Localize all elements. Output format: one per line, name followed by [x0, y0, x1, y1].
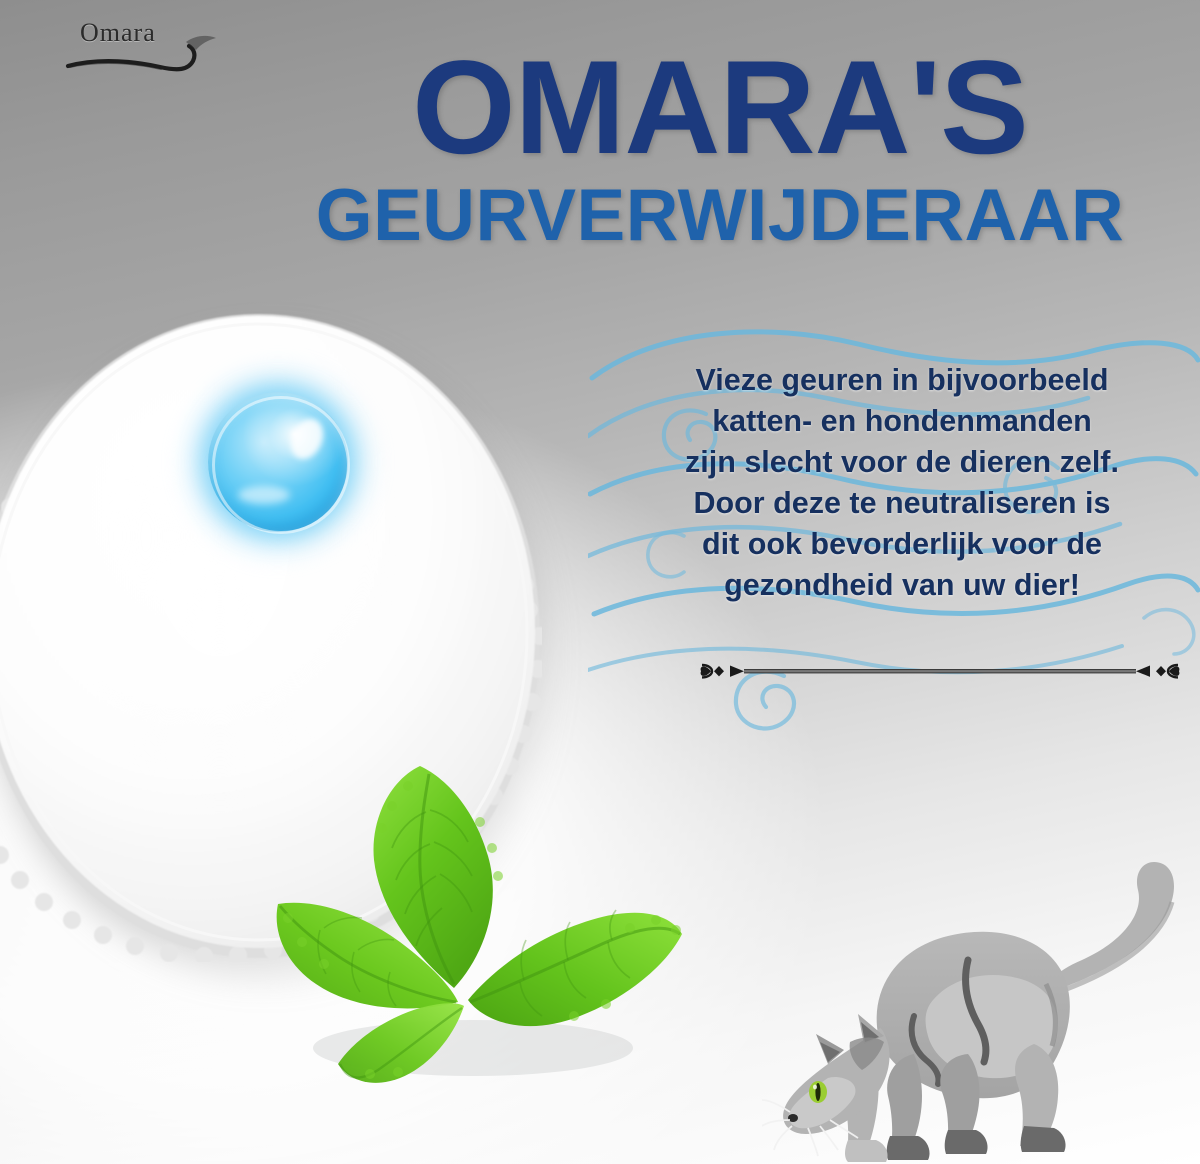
logo-wordmark: Omara — [80, 18, 156, 48]
ornamental-divider-icon — [700, 656, 1180, 686]
headline-block: OMARA'S GEURVERWIJDERAAR — [250, 46, 1190, 252]
body-line: dit ook bevorderlijk voor de — [612, 524, 1192, 565]
brand-logo: Omara — [60, 10, 250, 82]
mint-leaves-icon — [258, 752, 688, 1092]
body-line: Door deze te neutraliseren is — [612, 483, 1192, 524]
body-line: gezondheid van uw dier! — [612, 565, 1192, 606]
page-subtitle: GEURVERWIJDERAAR — [250, 179, 1190, 252]
page-title: OMARA'S — [250, 46, 1190, 171]
body-copy: Vieze geuren in bijvoorbeeld katten- en … — [612, 360, 1192, 606]
dome-secondary-highlight — [238, 486, 290, 504]
dome-rim — [212, 396, 350, 534]
grey-cat-illustration — [762, 838, 1200, 1164]
advertisement-canvas: Omara OMARA'S GEURVERWIJDERAAR Vieze geu… — [0, 0, 1200, 1164]
body-line: zijn slecht voor de dieren zelf. — [612, 442, 1192, 483]
glowing-blue-dome-button[interactable] — [208, 392, 348, 532]
body-line: Vieze geuren in bijvoorbeeld — [612, 360, 1192, 401]
body-line: katten- en hondenmanden — [612, 401, 1192, 442]
